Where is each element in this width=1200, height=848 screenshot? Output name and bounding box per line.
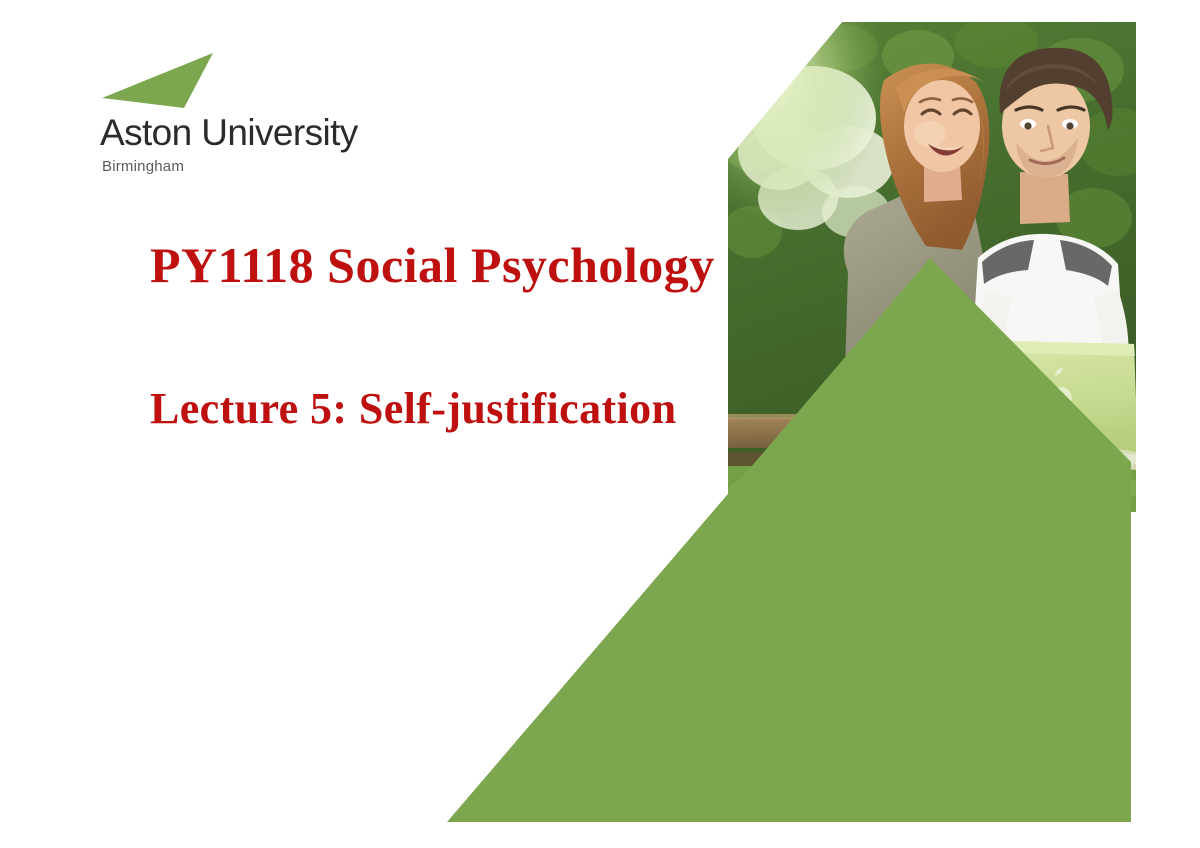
presentation-slide: Aston University Birmingham PY1118 Socia… <box>0 0 1200 848</box>
logo-subtitle: Birmingham <box>102 158 370 175</box>
aston-university-logo: Aston University Birmingham <box>100 48 370 175</box>
aston-triangle-mark-icon <box>100 48 232 118</box>
logo-wordmark: Aston University <box>100 114 370 151</box>
page-subtitle: Lecture 5: Self-justification <box>150 385 850 433</box>
title-block: PY1118 Social Psychology Lecture 5: Self… <box>150 238 850 433</box>
page-title: PY1118 Social Psychology <box>150 238 850 293</box>
